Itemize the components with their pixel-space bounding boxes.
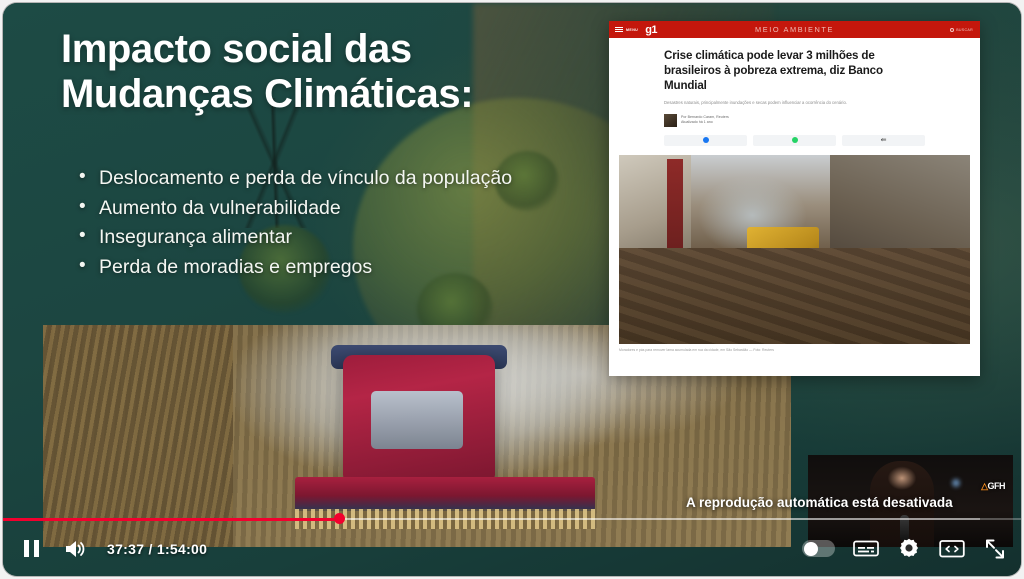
list-item: Perda de moradias e empregos [75, 253, 555, 283]
share-more-button[interactable]: ⇚ [842, 135, 925, 146]
subtitles-icon [853, 539, 879, 558]
autoplay-toggle[interactable] [802, 540, 835, 557]
player-controls: 37:37 / 1:54:00 [3, 521, 1021, 576]
news-article-screenshot: MENU g1 MEIO AMBIENTE BUSCAR Crise climá… [609, 21, 980, 376]
channel-logo: △GFH [981, 481, 1005, 492]
share-whatsapp-button[interactable] [753, 135, 836, 146]
share-icon: ⇚ [881, 137, 887, 144]
channel-logo-text: GFH [988, 481, 1006, 491]
news-headline: Crise climática pode levar 3 milhões de … [664, 48, 925, 93]
autoplay-toast: A reprodução automática está desativada [686, 495, 953, 510]
slide-bullet-list: Deslocamento e perda de vínculo da popul… [75, 164, 555, 283]
news-section-label: MEIO AMBIENTE [609, 25, 980, 34]
list-item: Insegurança alimentar [75, 223, 555, 253]
share-button-row: ⇚ [664, 135, 925, 146]
crop-field [43, 325, 233, 547]
avatar [664, 114, 677, 127]
settings-button[interactable] [897, 537, 921, 561]
share-facebook-button[interactable] [664, 135, 747, 146]
search-label: BUSCAR [956, 28, 973, 32]
studio-light [952, 479, 960, 487]
harvester-cab [371, 391, 463, 449]
harvester-body [343, 355, 495, 479]
fullscreen-icon [983, 537, 1007, 561]
facebook-icon [703, 137, 709, 143]
news-article-body: Crise climática pode levar 3 milhões de … [609, 38, 980, 146]
harvester-header [295, 477, 595, 511]
news-header-bar: MENU g1 MEIO AMBIENTE BUSCAR [609, 21, 980, 38]
pause-button[interactable] [9, 527, 53, 571]
mud-debris [619, 248, 970, 344]
gear-icon [897, 537, 921, 561]
search-icon [950, 28, 954, 32]
byline-date: Atualizado há 1 ano [681, 120, 729, 125]
video-player[interactable]: Impacto social das Mudanças Climáticas: … [3, 3, 1021, 576]
subtitles-button[interactable] [853, 539, 879, 558]
miniplayer-icon [939, 539, 965, 559]
news-photo [619, 155, 970, 344]
news-subheadline: Desastres naturais, principalmente inund… [664, 100, 925, 107]
volume-button[interactable] [53, 527, 97, 571]
list-item: Aumento da vulnerabilidade [75, 194, 555, 224]
time-display: 37:37 / 1:54:00 [107, 541, 207, 557]
autoplay-pause-icon [807, 545, 814, 552]
miniplayer-button[interactable] [939, 539, 965, 559]
fullscreen-button[interactable] [983, 537, 1007, 561]
news-byline: Por Bernardo Caram, Reuters Atualizado h… [664, 114, 925, 127]
whatsapp-icon [792, 137, 798, 143]
slide-title: Impacto social das Mudanças Climáticas: [61, 27, 561, 117]
pause-icon [24, 540, 39, 557]
search-button[interactable]: BUSCAR [950, 28, 973, 32]
list-item: Deslocamento e perda de vínculo da popul… [75, 164, 555, 194]
volume-icon [63, 538, 87, 560]
news-photo-caption: Moradores e pás para remover lama acumul… [619, 348, 970, 353]
